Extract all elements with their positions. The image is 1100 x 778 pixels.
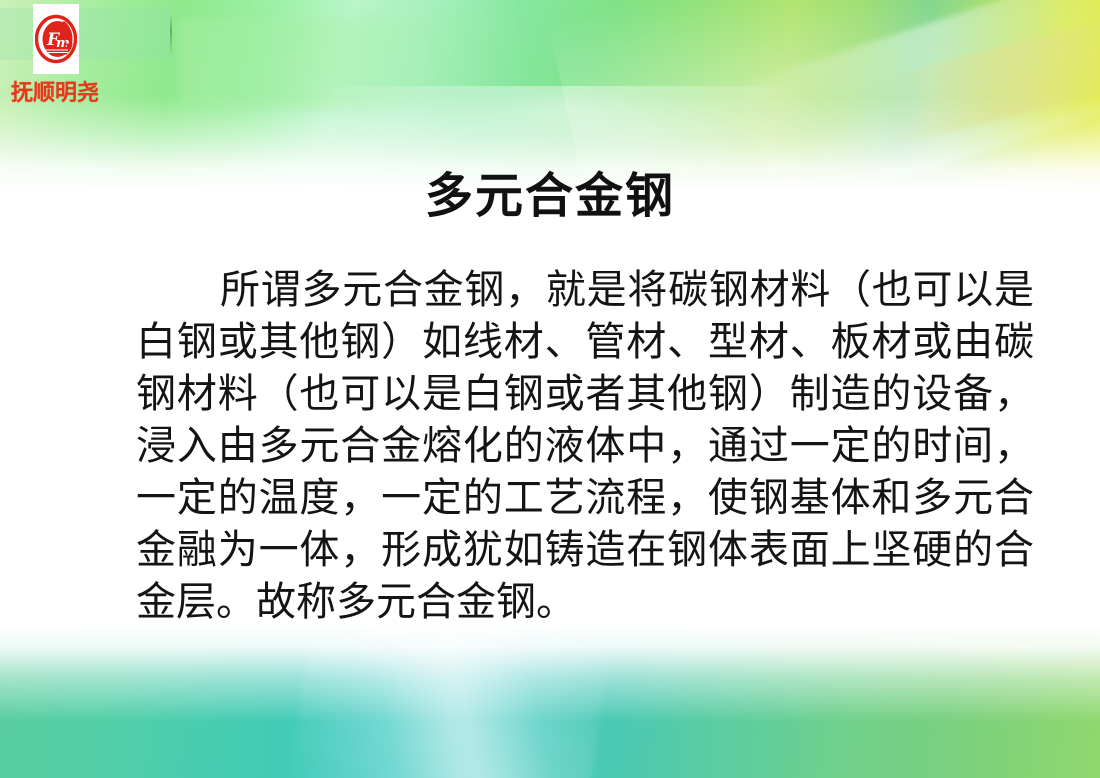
slide-content: 多元合金钢 所谓多元合金钢，就是将碳钢材料（也可以是白钢或其他钢）如线材、管材、… [0,0,1100,778]
slide-body-block: 所谓多元合金钢，就是将碳钢材料（也可以是白钢或其他钢）如线材、管材、型材、板材或… [136,264,1034,628]
slide-body-paragraph: 所谓多元合金钢，就是将碳钢材料（也可以是白钢或其他钢）如线材、管材、型材、板材或… [136,264,1034,628]
slide-title: 多元合金钢 [0,168,1100,224]
slide-canvas: F m y 抚顺明尧 多元合金钢 所谓多元合金钢，就是将碳钢材料（也可以是白钢或… [0,0,1100,778]
